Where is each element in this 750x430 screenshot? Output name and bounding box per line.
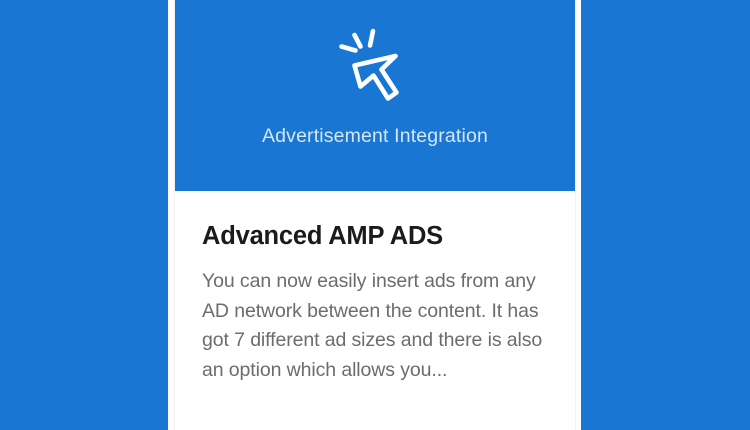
background-panel-left <box>0 0 168 430</box>
click-cursor-icon <box>329 26 421 118</box>
page-root: Advertisement Integration Advanced AMP A… <box>0 0 750 430</box>
card-header: Advertisement Integration <box>175 0 575 191</box>
card-title: Advanced AMP ADS <box>202 221 443 251</box>
background-panel-right <box>581 0 750 430</box>
card-description: You can now easily insert ads from any A… <box>202 267 554 385</box>
card-body: Advanced AMP ADS You can now easily inse… <box>175 191 575 430</box>
feature-card[interactable]: Advertisement Integration Advanced AMP A… <box>175 0 575 430</box>
card-header-label: Advertisement Integration <box>262 124 488 148</box>
